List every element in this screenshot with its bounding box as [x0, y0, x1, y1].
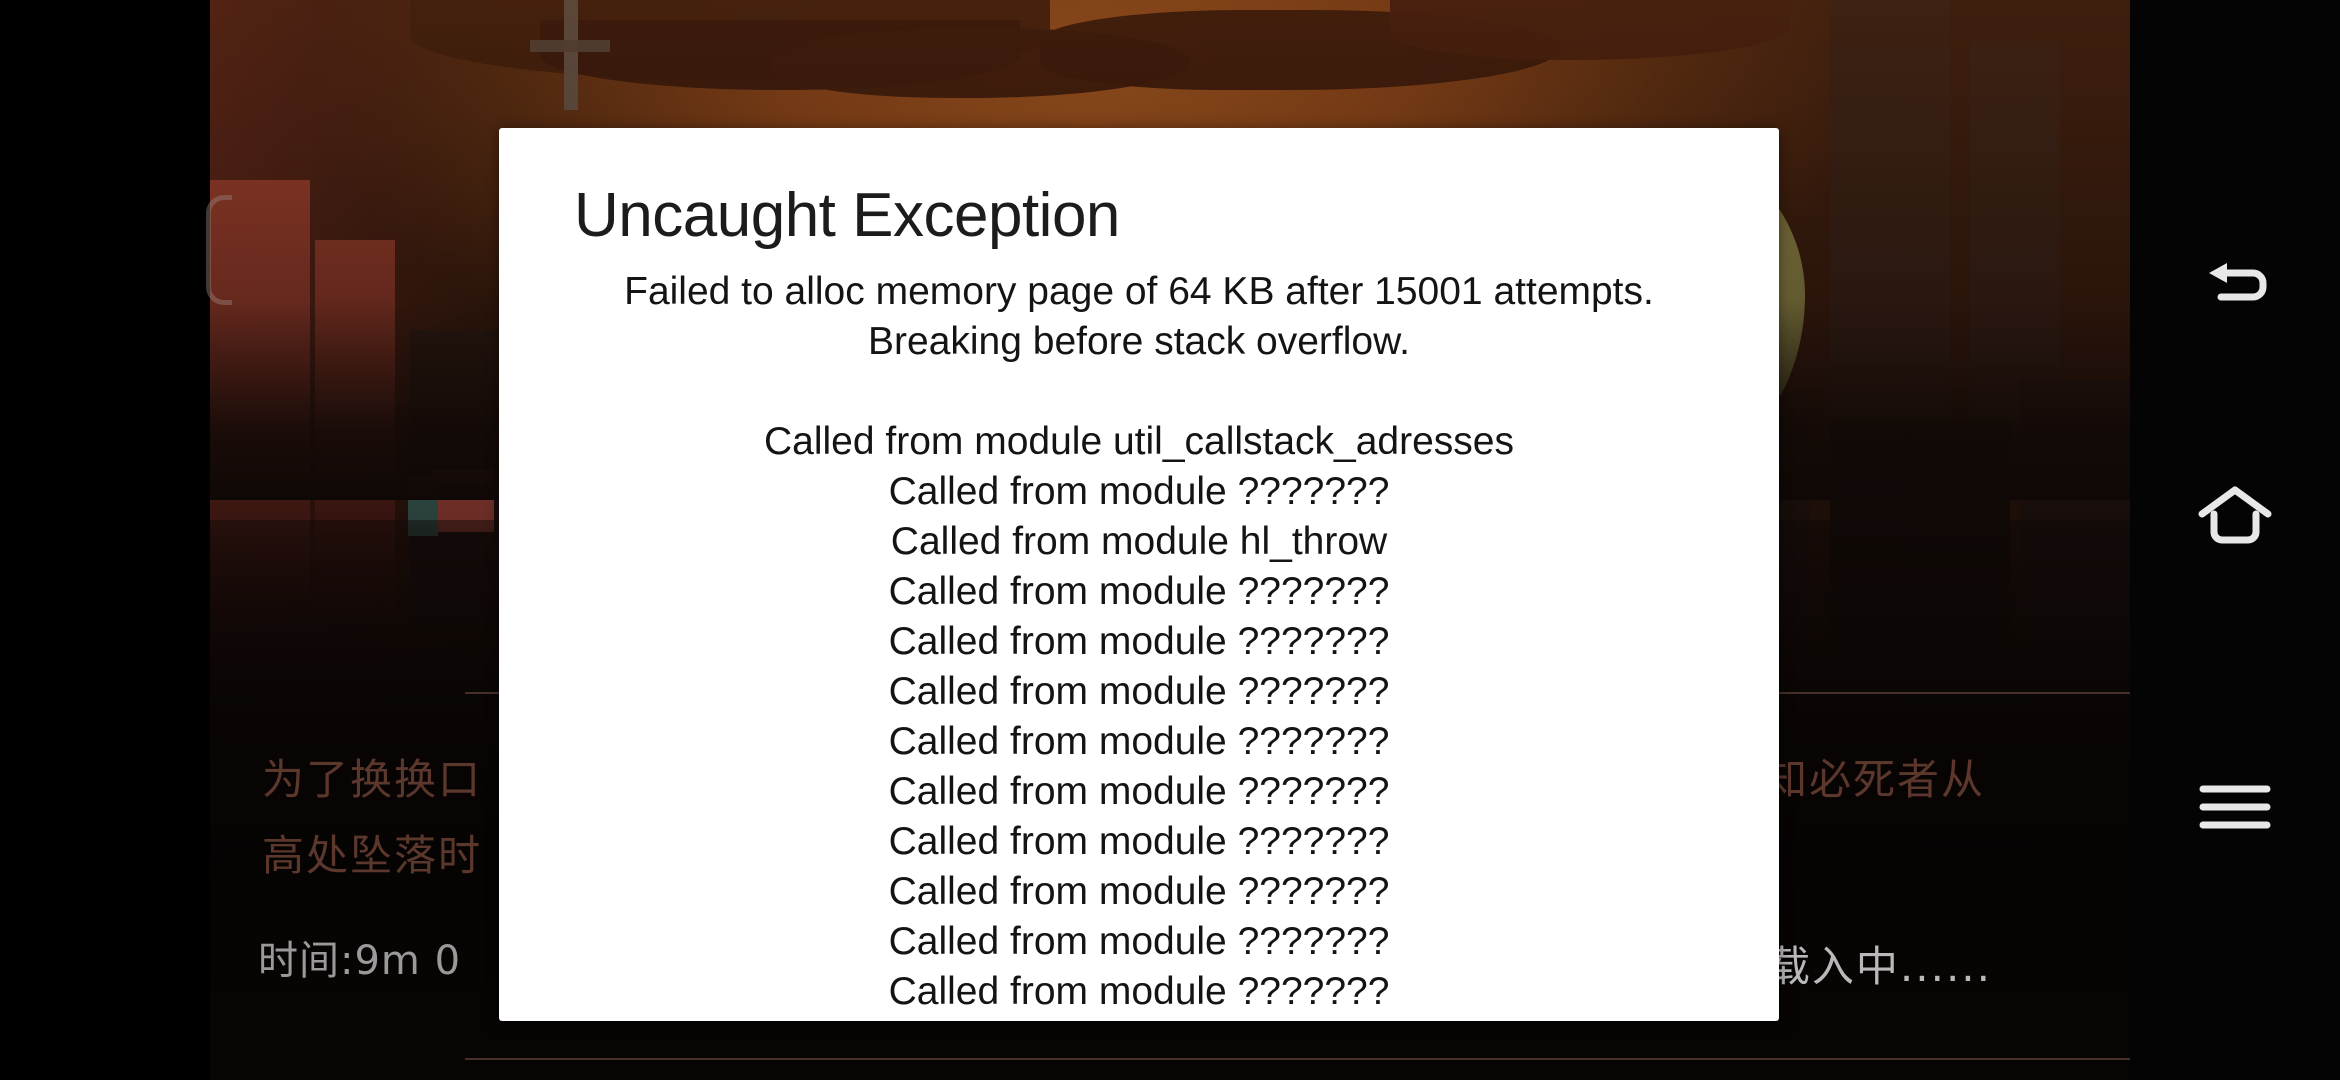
hud-divider-bottom [465, 1058, 2130, 1060]
game-timer: 时间:9m 0 [258, 928, 461, 986]
stack-trace-line: Called from module ??????? [499, 667, 1779, 717]
loading-label: 载入中...... [1768, 933, 1992, 994]
stack-trace-line: Called from module ??????? [499, 467, 1779, 517]
dialog-message: Failed to alloc memory page of 64 KB aft… [499, 267, 1779, 367]
stack-trace-line: Called from module ??????? [499, 867, 1779, 917]
uncaught-exception-dialog[interactable]: Uncaught Exception Failed to alloc memor… [499, 128, 1779, 1021]
story-text-right: 知必死者从 [1765, 742, 2130, 818]
screen: 为了换换口 高处坠落时 知必死者从 时间:9m 0 载入中...... Unca… [0, 0, 2340, 1080]
dialog-title: Uncaught Exception [574, 185, 1779, 247]
stack-trace-line: Called from module ??????? [499, 617, 1779, 667]
trace-spacer [499, 367, 1779, 417]
menu-icon [2195, 777, 2275, 837]
nav-back-button[interactable] [2130, 225, 2340, 345]
home-icon [2192, 474, 2278, 560]
back-arrow-icon [2195, 245, 2275, 325]
nav-home-button[interactable] [2130, 457, 2340, 577]
android-navigation-bar [2130, 0, 2340, 1080]
stack-trace-line: Called from module ??????? [499, 717, 1779, 767]
stack-trace-line: Called from module ??????? [499, 817, 1779, 867]
stack-trace-line: Called from module ??????? [499, 567, 1779, 617]
stack-trace-line: Called from module hl_throw [499, 517, 1779, 567]
game-edge-arrow-icon[interactable] [206, 195, 232, 305]
stack-trace-list: Called from module util_callstack_adress… [499, 417, 1779, 1017]
nav-recents-button[interactable] [2130, 747, 2340, 867]
left-letterbox [0, 0, 210, 1080]
stack-trace-line: Called from module ??????? [499, 767, 1779, 817]
stack-trace-line: Called from module util_callstack_adress… [499, 417, 1779, 467]
stack-trace-line: Called from module ??????? [499, 967, 1779, 1017]
stack-trace-line: Called from module ??????? [499, 917, 1779, 967]
